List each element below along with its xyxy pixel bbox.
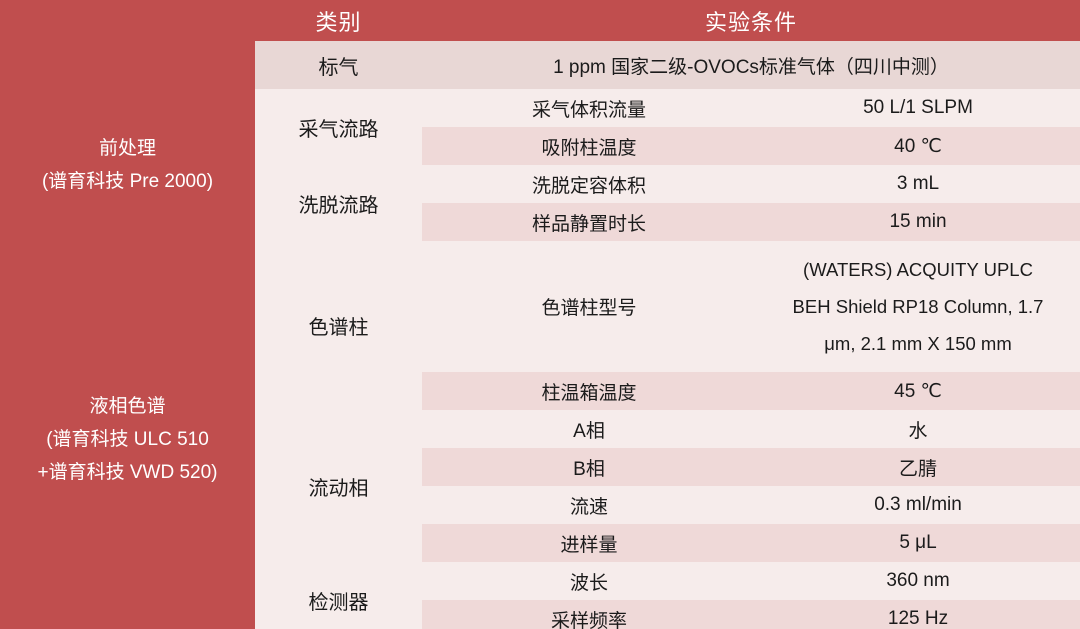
table-header-row: 类别 实验条件 xyxy=(0,0,1080,41)
param-cell: 色谱柱型号 xyxy=(422,241,756,372)
param-cell: 样品静置时长 xyxy=(422,203,756,241)
table-row: 标气 1 ppm 国家二级-OVOCs标准气体（四川中测） xyxy=(0,41,1080,89)
subgroup-cell-standard-gas: 标气 xyxy=(255,41,422,89)
header-cell-blank xyxy=(0,0,255,41)
header-cell-conditions: 实验条件 xyxy=(422,0,1080,41)
table-row: 前处理 (谱育科技 Pre 2000) 采气流路 采气体积流量 50 L/1 S… xyxy=(0,89,1080,127)
table-row: 液相色谱 (谱育科技 ULC 510 +谱育科技 VWD 520) 色谱柱 色谱… xyxy=(0,241,1080,372)
value-cell: 40 ℃ xyxy=(756,127,1080,165)
value-line: BEH Shield RP18 Column, 1.7 xyxy=(756,288,1080,325)
param-cell: 洗脱定容体积 xyxy=(422,165,756,203)
param-cell: 进样量 xyxy=(422,524,756,562)
category-line: 液相色谱 xyxy=(0,390,255,423)
subgroup-cell-chromatographic-column: 色谱柱 xyxy=(255,241,422,410)
param-cell: 采样频率 xyxy=(422,600,756,629)
value-cell: 125 Hz xyxy=(756,600,1080,629)
subgroup-cell-detector: 检测器 xyxy=(255,562,422,629)
category-line: 前处理 xyxy=(0,132,255,165)
value-cell: 15 min xyxy=(756,203,1080,241)
subgroup-cell-elution-path: 洗脱流路 xyxy=(255,165,422,241)
value-cell: 0.3 ml/min xyxy=(756,486,1080,524)
subgroup-cell-mobile-phase: 流动相 xyxy=(255,410,422,562)
category-line: (谱育科技 ULC 510 xyxy=(0,423,255,456)
category-line: +谱育科技 VWD 520) xyxy=(0,456,255,489)
experimental-conditions-table-container: 类别 实验条件 标气 1 ppm 国家二级-OVOCs标准气体（四川中测） 前处… xyxy=(0,0,1080,629)
value-line: μm, 2.1 mm X 150 mm xyxy=(756,325,1080,362)
experimental-conditions-table: 类别 实验条件 标气 1 ppm 国家二级-OVOCs标准气体（四川中测） 前处… xyxy=(0,0,1080,629)
value-cell: 5 μL xyxy=(756,524,1080,562)
param-cell: 波长 xyxy=(422,562,756,600)
param-cell: 流速 xyxy=(422,486,756,524)
value-cell-standard-gas: 1 ppm 国家二级-OVOCs标准气体（四川中测） xyxy=(422,41,1080,89)
value-cell: 50 L/1 SLPM xyxy=(756,89,1080,127)
param-cell: 吸附柱温度 xyxy=(422,127,756,165)
param-cell: B相 xyxy=(422,448,756,486)
value-cell: 3 mL xyxy=(756,165,1080,203)
category-cell-liquid-chromatography: 液相色谱 (谱育科技 ULC 510 +谱育科技 VWD 520) xyxy=(0,241,255,629)
subgroup-cell-sampling-path: 采气流路 xyxy=(255,89,422,165)
value-cell: 45 ℃ xyxy=(756,372,1080,410)
value-cell-column-model: (WATERS) ACQUITY UPLC BEH Shield RP18 Co… xyxy=(756,241,1080,372)
value-cell: 360 nm xyxy=(756,562,1080,600)
param-cell: 采气体积流量 xyxy=(422,89,756,127)
category-line: (谱育科技 Pre 2000) xyxy=(0,165,255,198)
category-cell-blank xyxy=(0,41,255,89)
param-cell: 柱温箱温度 xyxy=(422,372,756,410)
value-cell: 水 xyxy=(756,410,1080,448)
param-cell: A相 xyxy=(422,410,756,448)
header-cell-category: 类别 xyxy=(255,0,422,41)
value-cell: 乙腈 xyxy=(756,448,1080,486)
value-line: (WATERS) ACQUITY UPLC xyxy=(756,251,1080,288)
category-cell-pretreatment: 前处理 (谱育科技 Pre 2000) xyxy=(0,89,255,241)
